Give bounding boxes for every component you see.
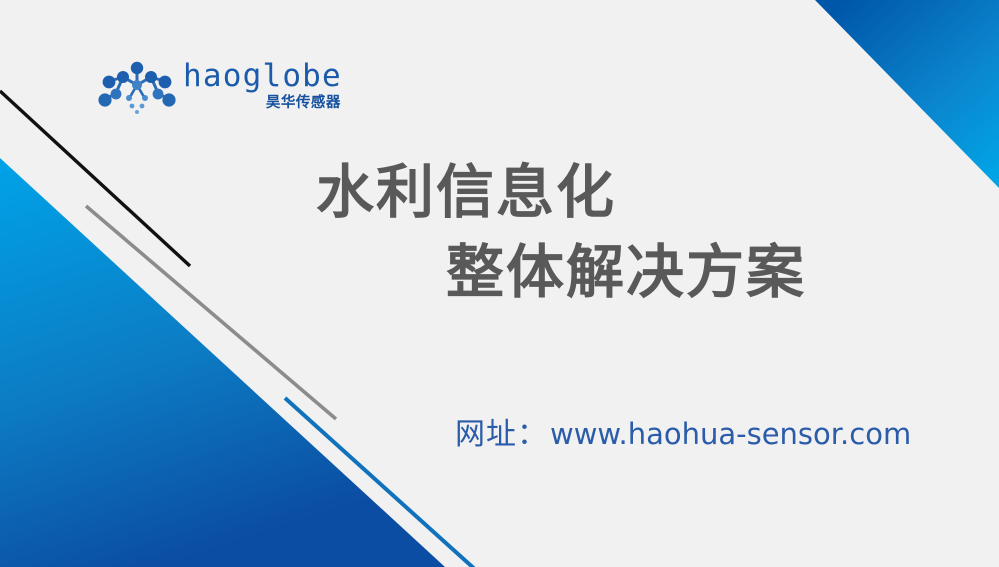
page-title: 水利信息化 整体解决方案 (0, 158, 999, 307)
logo-text-column: haoglobe 昊华传感器 (183, 57, 342, 111)
haoglobe-network-node-icon (98, 59, 176, 117)
blue-accent-line (285, 398, 478, 567)
website-label: 网址： (455, 417, 548, 452)
website-line: 网址：www.haohua-sensor.com (455, 420, 911, 450)
presentation-slide: haoglobe 昊华传感器 水利信息化 整体解决方案 网址：www.haohu… (0, 0, 999, 567)
website-url[interactable]: www.haohua-sensor.com (550, 417, 911, 451)
title-line-2: 整体解决方案 (0, 238, 999, 306)
logo-subtext: 昊华传感器 (266, 96, 341, 111)
company-logo: haoglobe 昊华传感器 (98, 57, 323, 119)
logo-wordmark: haoglobe (183, 61, 342, 92)
title-line-1: 水利信息化 (0, 158, 999, 226)
